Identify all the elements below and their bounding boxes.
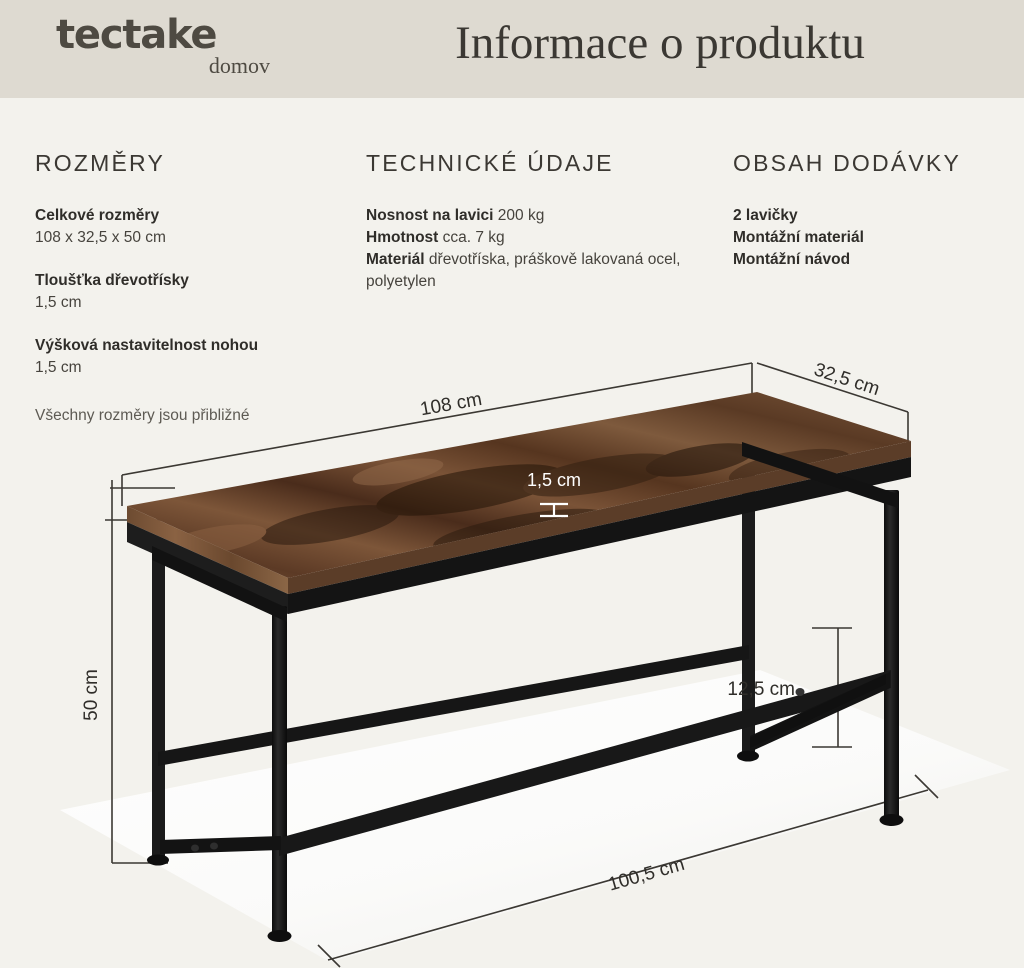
contents-item-text: Montážní materiál [733, 229, 864, 246]
callout-depth: 32,5 cm [811, 359, 882, 400]
foot-cap [268, 930, 292, 942]
tech-value-capacity: 200 kg [498, 207, 545, 224]
foot-cap [147, 855, 169, 866]
column-heading-technical: TECHNICKÉ ÚDAJE [366, 150, 716, 177]
tech-label-capacity: Nosnost na lavici [366, 207, 493, 224]
spec-group-thickness: Tloušťka dřevotřísky 1,5 cm [35, 270, 355, 314]
column-package-contents: OBSAH DODÁVKY 2 lavičky Montážní materiá… [733, 150, 1013, 271]
tech-label-material: Materiál [366, 251, 425, 268]
foot-cap [737, 751, 759, 762]
spec-label-text: Tloušťka dřevotřísky [35, 272, 189, 289]
contents-item-text: 2 lavičky [733, 207, 798, 224]
column-heading-contents: OBSAH DODÁVKY [733, 150, 1013, 177]
logo-wordmark: tectake [56, 13, 296, 57]
spec-label: Tloušťka dřevotřísky [35, 270, 355, 292]
contents-item: Montážní materiál [733, 227, 1013, 249]
spec-value: 1,5 cm [35, 292, 355, 314]
tech-value-weight: cca. 7 kg [443, 229, 505, 246]
foot-cap [880, 814, 904, 826]
contents-item: Montážní návod [733, 249, 1013, 271]
spec-label-text: Celkové rozměry [35, 207, 159, 224]
contents-item-text: Montážní návod [733, 251, 850, 268]
tech-line-weight: Hmotnost cca. 7 kg [366, 227, 716, 249]
floor-shadow-area [60, 670, 1010, 962]
callout-length: 108 cm [419, 389, 484, 421]
bolt-icon [210, 843, 218, 850]
callout-brace-height: 12,5 cm [727, 679, 795, 700]
column-heading-dimensions: ROZMĚRY [35, 150, 355, 177]
column-technical-data: TECHNICKÉ ÚDAJE Nosnost na lavici 200 kg… [366, 150, 716, 293]
tech-line-material: Materiál dřevotříska, práškově lakovaná … [366, 249, 716, 293]
logo-tagline: domov [56, 55, 270, 77]
callout-height: 50 cm [81, 669, 102, 721]
product-illustration: 108 cm 32,5 cm 1,5 cm 50 cm 12,5 cm 100,… [0, 340, 1024, 968]
page-title: Informace o produktu [330, 14, 990, 72]
bolt-icon [796, 688, 805, 696]
spec-group-overall: Celkové rozměry 108 x 32,5 x 50 cm [35, 205, 355, 249]
bench-top [127, 392, 911, 614]
tech-line-capacity: Nosnost na lavici 200 kg [366, 205, 716, 227]
callout-thickness: 1,5 cm [527, 470, 581, 490]
spec-value: 108 x 32,5 x 50 cm [35, 227, 355, 249]
tech-label-weight: Hmotnost [366, 229, 438, 246]
contents-item: 2 lavičky [733, 205, 1013, 227]
bolt-icon [191, 845, 199, 852]
brand-logo: tectake domov [56, 13, 296, 77]
header-band: tectake domov Informace o produktu [0, 0, 1024, 98]
spec-label: Celkové rozměry [35, 205, 355, 227]
